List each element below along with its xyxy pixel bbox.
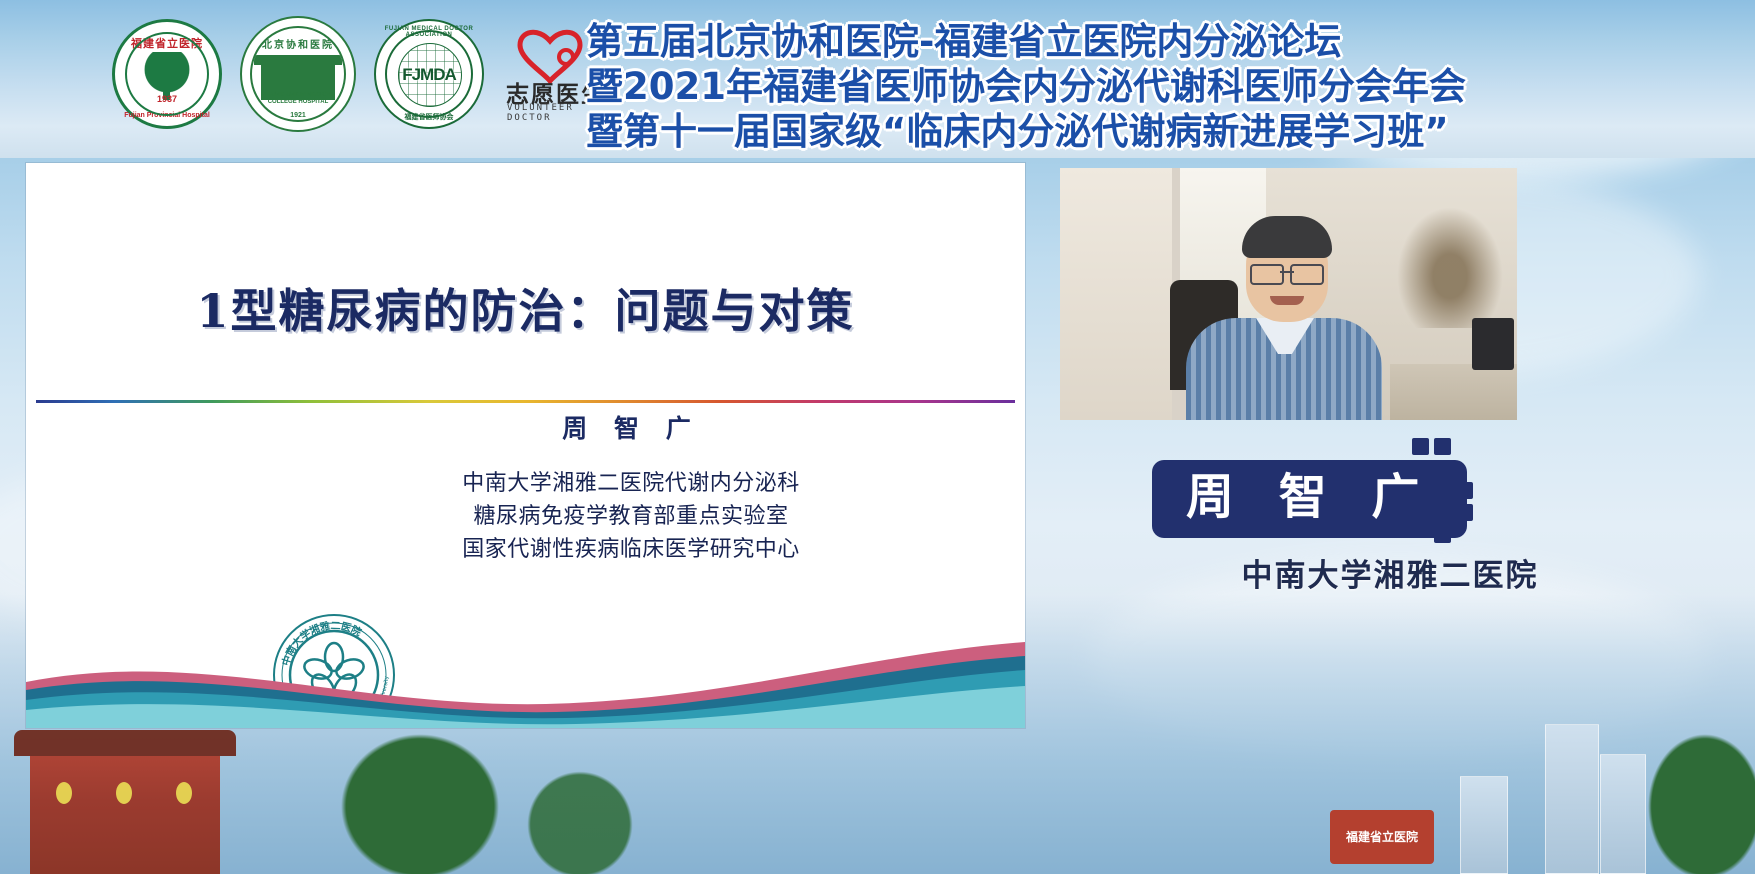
plant-decoration — [1390, 198, 1510, 328]
banner-title-line-3: 暨第十一届国家级“临床内分泌代谢病新进展学习班” — [586, 109, 1746, 154]
scenery-strip: 福建省立医院 — [0, 714, 1755, 874]
affiliation-line-1: 中南大学湘雅二医院代谢内分泌科 — [416, 467, 846, 500]
desk-surface — [1390, 364, 1517, 420]
lantern-icon — [56, 782, 72, 804]
affiliation-line-2: 糖尿病免疫学教育部重点实验室 — [416, 500, 846, 533]
author-name: 周 智 广 — [416, 409, 846, 445]
logo-year: 1937 — [115, 94, 219, 104]
lantern-icon — [116, 782, 132, 804]
building-silhouette — [1545, 724, 1599, 874]
logo-cn-text: 福建省医师协会 — [376, 112, 482, 122]
speaker-hair — [1242, 216, 1332, 258]
slide-title: 1型糖尿病的防治：问题与对策 — [26, 275, 1025, 341]
logo-en-text: Fujian Provincial Hospital — [115, 112, 219, 119]
logo-en-text: PEKING UNION MEDICAL COLLEGE HOSPITAL — [252, 92, 344, 106]
tree-decoration — [1640, 724, 1755, 874]
presentation-slide[interactable]: 1型糖尿病的防治：问题与对策 1958 — [26, 163, 1025, 728]
tree-decoration — [520, 764, 640, 874]
logo-year: 1921 — [252, 112, 344, 119]
monitor-device — [1472, 318, 1514, 370]
logo-cn-text: 北京协和医院 — [252, 36, 344, 51]
slide-wave-decoration — [26, 608, 1025, 728]
broadcast-stage: 福建省立医院 福建省立医院 1937 Fujian Provincial Hos… — [0, 0, 1755, 874]
logo-row: 福建省立医院 1937 Fujian Provincial Hospital 北… — [112, 16, 610, 132]
lantern-icon — [176, 782, 192, 804]
event-banner: 福建省立医院 1937 Fujian Provincial Hospital 北… — [0, 0, 1755, 158]
badge-name-text: 周 智 广 — [1186, 468, 1433, 526]
speaker-video-feed[interactable] — [1060, 168, 1517, 420]
tree-decoration — [330, 724, 510, 874]
logo-en-text: FUJIAN MEDICAL DOCTOR ASSOCIATION — [376, 26, 482, 38]
tree-emblem-icon — [141, 52, 193, 96]
fjmda-logo: FUJIAN MEDICAL DOCTOR ASSOCIATION FJMDA … — [374, 19, 484, 129]
logo-abbreviation: FJMDA — [376, 65, 482, 85]
hospital-sign: 福建省立医院 — [1330, 810, 1434, 864]
fujian-provincial-hospital-logo: 福建省立医院 1937 Fujian Provincial Hospital — [112, 19, 222, 129]
temple-building — [30, 742, 220, 874]
rainbow-divider — [36, 400, 1015, 403]
banner-title-line-2: 暨2021年福建省医师协会内分泌代谢科医师分会年会 — [586, 64, 1746, 109]
author-block: 周 智 广 中南大学湘雅二医院代谢内分泌科 糖尿病免疫学教育部重点实验室 国家代… — [416, 409, 846, 566]
badge-caption-text: 中南大学湘雅二医院 — [1060, 550, 1720, 595]
peking-union-medical-college-hospital-logo: 北京协和医院 PEKING UNION MEDICAL COLLEGE HOSP… — [240, 16, 356, 132]
pixel-decoration — [1412, 438, 1429, 455]
pixel-decoration — [1434, 438, 1451, 455]
video-wall-left — [1060, 168, 1172, 420]
speaker-name-badge: 周 智 广 中南大学湘雅二医院 — [1060, 420, 1720, 620]
banner-title-line-1: 第五届北京协和医院-福建省立医院内分泌论坛 — [586, 19, 1746, 64]
logo-cn-text: 福建省立医院 — [115, 35, 219, 51]
glasses-icon — [1250, 264, 1324, 282]
building-silhouette — [1460, 776, 1508, 874]
banner-title: 第五届北京协和医院-福建省立医院内分泌论坛 暨2021年福建省医师协会内分泌代谢… — [586, 19, 1746, 154]
affiliation-line-3: 国家代谢性疾病临床医学研究中心 — [416, 533, 846, 566]
speaker-mouth — [1270, 296, 1304, 305]
